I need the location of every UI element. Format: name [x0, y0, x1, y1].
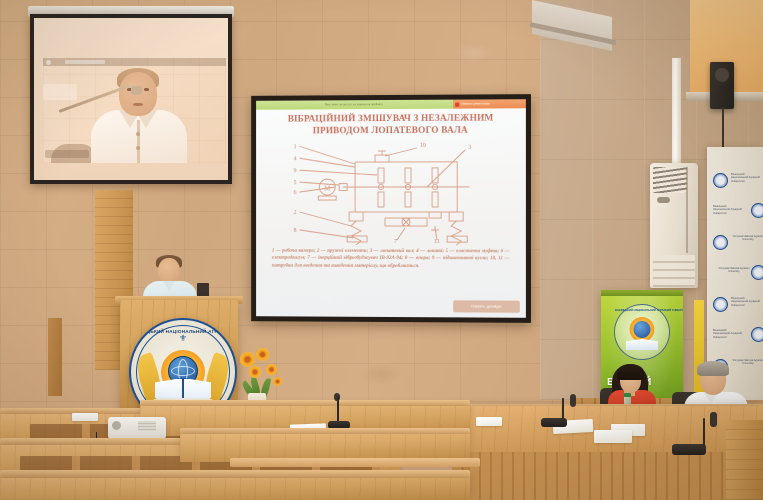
presentation-display[interactable]: Ваш запит на доступ до документа прийнят…: [251, 94, 531, 323]
svg-text:7: 7: [394, 239, 397, 245]
projector-lens: [112, 421, 121, 430]
notification-share-bar[interactable]: Увімкнути демонстрацію: [453, 99, 526, 108]
head-table-skirt: [470, 452, 763, 500]
svg-text:10: 10: [420, 143, 426, 149]
slide-legend: 1 — робоча камера; 2 — пружні елементи; …: [272, 248, 510, 271]
video-call-name-chip: [45, 150, 89, 158]
desk-mic-arm: [337, 397, 339, 422]
presswall-logo-text-en: Vinnytsia National Agrarian University: [731, 359, 763, 366]
slide-presenter-chip: Говорить: доповідач: [453, 300, 520, 312]
video-call-side-panel: [43, 84, 77, 100]
projection-screen-video[interactable]: [30, 14, 232, 184]
presswall-logo: [751, 265, 763, 280]
screen-surface: [34, 18, 228, 180]
presswall-logo-text-en: Vinnytsia National Agrarian University: [717, 267, 751, 274]
presidium-mic-head-right: [710, 412, 717, 427]
document-papers[interactable]: [476, 417, 502, 426]
globe-icon: [634, 321, 651, 338]
notification-accept-bar[interactable]: Ваш запит на доступ до документа прийнят…: [256, 100, 453, 110]
air-conditioner: [650, 163, 698, 288]
rollup-emblem: ВІННИЦЬКИЙ НАЦІОНАЛЬНИЙ АГРАРНИЙ УНІВЕРС…: [614, 304, 670, 360]
svg-text:4: 4: [294, 156, 297, 162]
svg-text:8: 8: [294, 228, 297, 234]
presswall-logo: [713, 297, 728, 312]
bottle-cap: [624, 393, 631, 397]
slide-surface: Ваш запит на доступ до документа прийнят…: [256, 99, 526, 318]
trident-icon: ⚜: [179, 334, 187, 343]
presswall-logo-text: Вінницький Національний Аграрний Універс…: [731, 173, 761, 183]
presswall-logo-text: Вінницький Національний Аграрний Універс…: [713, 329, 743, 339]
presswall-logo: [713, 173, 728, 188]
ac-vent-grille: [653, 167, 687, 193]
flower: [273, 377, 282, 386]
wooden-wall-panel-small: [48, 318, 62, 396]
desk-top: [230, 458, 480, 467]
ac-lower-louvers: [653, 255, 695, 287]
name-card: [594, 430, 632, 443]
svg-text:5: 5: [294, 180, 297, 186]
shirt-placket: [137, 120, 140, 163]
svg-text:6: 6: [294, 190, 297, 196]
video-call-feed: [43, 58, 226, 163]
woman-hair-front: [617, 364, 644, 380]
presswall-logo: [751, 327, 763, 342]
man-hair: [697, 361, 729, 376]
flower: [256, 348, 269, 361]
video-call-title-chip: [65, 60, 105, 64]
projector-vent: [138, 421, 156, 431]
ac-panel-seam: [686, 167, 688, 253]
svg-text:2: 2: [294, 210, 297, 216]
svg-text:1: 1: [294, 144, 297, 150]
presidium-mic-head-left: [570, 394, 576, 407]
schematic-svg: М: [278, 140, 508, 246]
eye: [144, 88, 149, 91]
presswall-logo-text-en: Vinnytsia National Agrarian University: [731, 235, 763, 242]
mixer-schematic-diagram: М: [278, 140, 508, 246]
presidium-mic-arm-left: [562, 398, 564, 420]
ac-brand-badge: [657, 197, 670, 203]
flower: [240, 352, 255, 367]
presswall-logo-text: Вінницький Національний Аграрний Універс…: [731, 297, 761, 307]
speaker-cone: [715, 68, 729, 82]
svg-text:3: 3: [468, 145, 471, 151]
desk-row-3: [0, 478, 470, 500]
open-book-icon: [626, 339, 658, 350]
speaker-podium: ВІННИЦЬКИЙ НАЦІОНАЛЬНИЙ АГРАРНИЙ УНІВЕРС…: [120, 300, 238, 412]
svg-text:9: 9: [294, 168, 297, 174]
presswall-logo: [713, 235, 728, 250]
slide-title-line2: ПРИВОДОМ ЛОПАТЕВОГО ВАЛА: [264, 124, 518, 137]
conference-hall-scene: Ваш запит на доступ до документа прийнят…: [0, 0, 763, 500]
slide-title-line1: ВІБРАЦІЙНИЙ ЗМІШУВАЧ З НЕЗАЛЕЖНИМ: [264, 112, 518, 125]
rollup-emblem-text: ВІННИЦЬКИЙ НАЦІОНАЛЬНИЙ АГРАРНИЙ УНІВЕРС…: [615, 309, 669, 312]
flower: [249, 366, 261, 378]
wooden-pillar: [726, 420, 763, 500]
mouth: [133, 103, 143, 106]
browser-notification-bar[interactable]: Ваш запит на доступ до документа прийнят…: [256, 99, 526, 110]
wall-speaker: [710, 62, 734, 109]
remote-microphone-head: [131, 86, 142, 95]
svg-text:11: 11: [434, 239, 440, 245]
rollup-top-rail: [601, 290, 683, 296]
slide-title: ВІБРАЦІЙНИЙ ЗМІШУВАЧ З НЕЗАЛЕЖНИМ ПРИВОД…: [264, 112, 518, 136]
shirt-button: [136, 146, 140, 150]
presswall-logo: [751, 203, 763, 218]
presidium-mic-base-right[interactable]: [672, 444, 706, 455]
presswall-logo-text: Вінницький Національний Аграрний Універс…: [713, 205, 743, 215]
shirt-button: [136, 132, 140, 136]
desk-papers[interactable]: [72, 413, 98, 421]
video-call-status-icon: [46, 60, 51, 65]
flower: [266, 364, 277, 375]
speaker-cable: [722, 107, 724, 149]
